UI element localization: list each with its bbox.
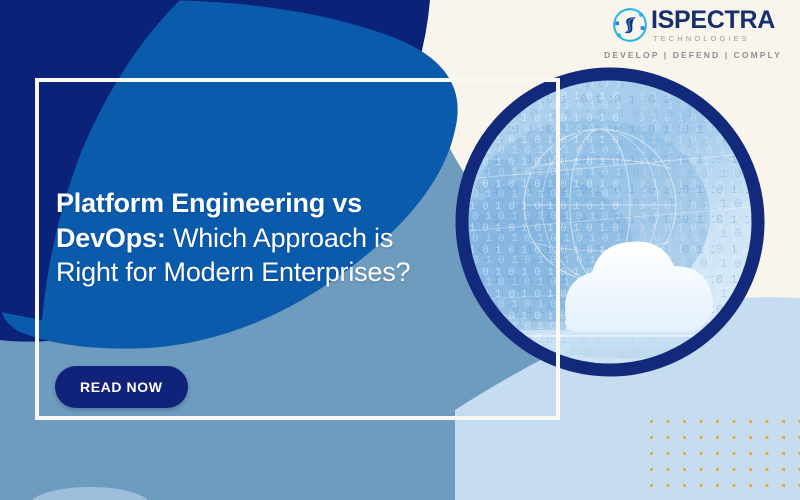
gold-dot-grid (650, 420, 800, 500)
logo-wordmark: ISPECTRA TECHNOLOGIES (651, 8, 775, 43)
logo-row: ISPECTRA TECHNOLOGIES (598, 6, 788, 44)
ispectra-s-circle-icon (611, 6, 649, 44)
logo-subtitle: TECHNOLOGIES (653, 35, 750, 43)
brand-logo[interactable]: ISPECTRA TECHNOLOGIES DEVELOP | DEFEND |… (598, 6, 788, 60)
read-now-button[interactable]: READ NOW (55, 366, 188, 408)
page-title: Platform Engineering vs DevOps: Which Ap… (56, 186, 446, 290)
logo-tagline: DEVELOP | DEFEND | COMPLY (598, 50, 788, 60)
blog-banner: 1 0 0 1 0 1 1 1 0 0 (0, 0, 800, 500)
logo-name: ISPECTRA (651, 8, 775, 33)
